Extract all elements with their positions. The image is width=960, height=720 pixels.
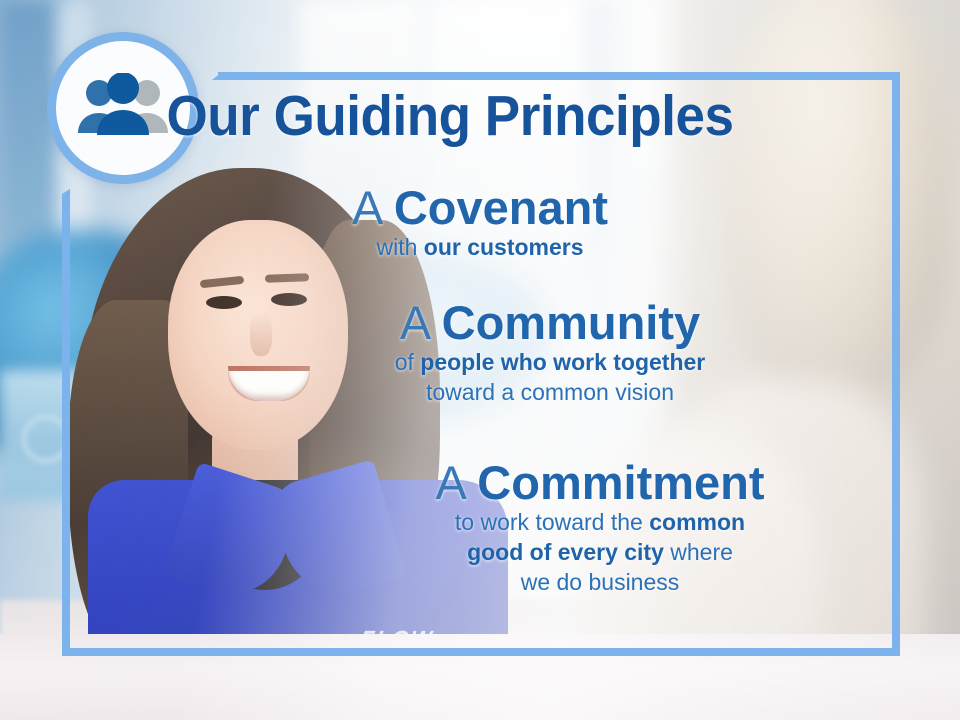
desc-part: with [376, 234, 423, 260]
principle-community: A Community of people who work together … [260, 298, 840, 408]
principle-keyword: Commitment [477, 456, 764, 509]
principle-article: A [352, 181, 381, 234]
principle-heading: A Commitment [300, 458, 900, 508]
page-title: Our Guiding Principles [32, 88, 869, 145]
desc-line: with our customers [376, 234, 583, 260]
desc-part: toward a common vision [426, 379, 674, 405]
desc-part: of [395, 349, 421, 375]
desc-part-bold: good of every city [467, 539, 664, 565]
desc-part-bold: common [649, 509, 745, 535]
principle-heading: A Covenant [200, 183, 760, 233]
desc-line: toward a common vision [260, 378, 840, 408]
principle-article: A [435, 456, 464, 509]
principle-heading: A Community [260, 298, 840, 348]
desc-line: of people who work together [260, 348, 840, 378]
desc-line: to work toward the common [300, 508, 900, 538]
principle-description: with our customers [200, 233, 760, 262]
desc-part: to work toward the [455, 509, 649, 535]
principle-commitment: A Commitment to work toward the common g… [300, 458, 900, 597]
principle-keyword: Covenant [394, 181, 608, 234]
desc-part: where [664, 539, 733, 565]
banner-image: FLOW FLOW [0, 0, 960, 720]
principle-description: of people who work together toward a com… [260, 348, 840, 408]
desc-line: we do business [300, 568, 900, 598]
desc-part-bold: our customers [424, 234, 584, 260]
principle-article: A [400, 296, 429, 349]
desc-part-bold: people who work together [420, 349, 705, 375]
principle-keyword: Community [442, 296, 701, 349]
principle-description: to work toward the common good of every … [300, 508, 900, 598]
desc-part: we do business [521, 569, 680, 595]
principle-covenant: A Covenant with our customers [200, 183, 760, 262]
desc-line: good of every city where [300, 538, 900, 568]
